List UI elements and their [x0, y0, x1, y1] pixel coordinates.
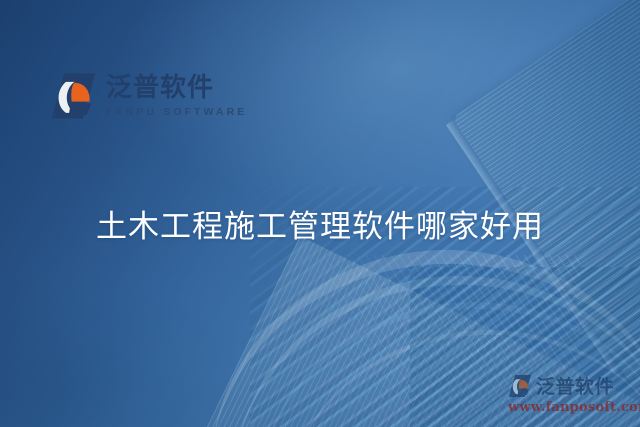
- brand-logo: 泛普软件 FANPU SOFTWARE: [50, 72, 247, 120]
- logo-name-cn: 泛普软件: [106, 74, 247, 100]
- watermark-url: www.fanposoft.com: [508, 400, 636, 415]
- headline-title: 土木工程施工管理软件哪家好用: [0, 206, 640, 248]
- fanpu-logo-icon: [50, 72, 97, 120]
- logo-wordmark: 泛普软件 FANPU SOFTWARE: [106, 74, 247, 118]
- watermark-fanpu-logo-icon: [508, 374, 532, 398]
- promotional-banner: 泛普软件 FANPU SOFTWARE 土木工程施工管理软件哪家好用 泛普软件 …: [0, 0, 640, 427]
- watermark-name-cn: 泛普软件: [536, 372, 614, 399]
- watermark: 泛普软件 www.fanposoft.com: [508, 372, 636, 415]
- logo-name-en: FANPU SOFTWARE: [106, 107, 247, 118]
- watermark-brand-row: 泛普软件: [508, 372, 636, 399]
